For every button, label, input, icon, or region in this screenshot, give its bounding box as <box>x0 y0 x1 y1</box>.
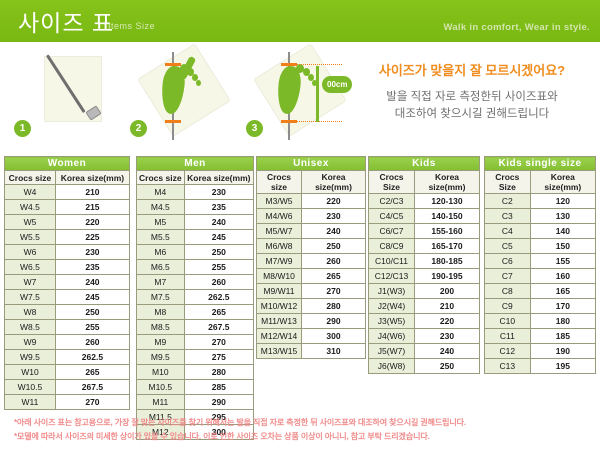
crocs-size-cell: M4/W6 <box>257 209 302 224</box>
korea-size-cell: 200 <box>414 284 479 299</box>
korea-size-cell: 130 <box>530 209 595 224</box>
table-row: W6230 <box>5 245 130 260</box>
step-2: 2 <box>128 50 238 145</box>
korea-size-cell: 165-170 <box>414 239 479 254</box>
korea-size-cell: 245 <box>55 290 129 305</box>
crocs-size-cell: W6 <box>5 245 56 260</box>
table-kids: KidsCrocs SizeKorea size(mm)C2/C3120-130… <box>368 156 480 374</box>
crocs-size-cell: C3 <box>485 209 531 224</box>
korea-size-cell: 270 <box>301 284 365 299</box>
marker-bottom-icon <box>165 120 181 123</box>
table-column-header: Korea size(mm) <box>414 171 479 194</box>
table-row: W11270 <box>5 395 130 410</box>
korea-size-cell: 225 <box>55 230 129 245</box>
korea-size-cell: 310 <box>301 344 365 359</box>
korea-size-cell: 262.5 <box>55 350 129 365</box>
table-row: C6155 <box>485 254 596 269</box>
crocs-size-cell: C9 <box>485 299 531 314</box>
table-group-header: Men <box>137 157 254 171</box>
korea-size-cell: 240 <box>55 275 129 290</box>
crocs-size-cell: M5/W7 <box>257 224 302 239</box>
table-row: J3(W5)220 <box>369 314 480 329</box>
korea-size-cell: 140-150 <box>414 209 479 224</box>
crocs-size-cell: C10 <box>485 314 531 329</box>
crocs-size-cell: J1(W3) <box>369 284 415 299</box>
table-row: M11/W13290 <box>257 314 366 329</box>
table-row: W9260 <box>5 335 130 350</box>
korea-size-cell: 120-130 <box>414 194 479 209</box>
korea-size-cell: 230 <box>55 245 129 260</box>
size-tables: WomenCrocs sizeKorea size(mm)W4210W4.521… <box>0 156 600 411</box>
korea-size-cell: 180 <box>530 314 595 329</box>
crocs-size-cell: C5 <box>485 239 531 254</box>
crocs-size-cell: J6(W8) <box>369 359 415 374</box>
crocs-size-cell: W11 <box>5 395 56 410</box>
table-column-header: Crocs size <box>137 171 185 185</box>
korea-size-cell: 210 <box>414 299 479 314</box>
korea-size-cell: 260 <box>184 275 253 290</box>
korea-size-cell: 275 <box>184 350 253 365</box>
table-row: M12/W14300 <box>257 329 366 344</box>
crocs-size-cell: C12/C13 <box>369 269 415 284</box>
table-column-header: Korea size(mm) <box>184 171 253 185</box>
measurement-steps: 1 2 00cm 3 사이즈가 맞을지 잘 모르시겠어요? 발을 직접 자로 측… <box>0 42 600 150</box>
crocs-size-cell: C2/C3 <box>369 194 415 209</box>
korea-size-cell: 280 <box>301 299 365 314</box>
korea-size-cell: 250 <box>414 359 479 374</box>
korea-size-cell: 230 <box>184 185 253 200</box>
korea-size-cell: 215 <box>55 200 129 215</box>
crocs-size-cell: J4(W6) <box>369 329 415 344</box>
crocs-size-cell: M13/W15 <box>257 344 302 359</box>
table-group-header: Unisex <box>257 157 366 171</box>
crocs-size-cell: C7 <box>485 269 531 284</box>
table-row: M7/W9260 <box>257 254 366 269</box>
korea-size-cell: 250 <box>184 245 253 260</box>
korea-size-cell: 267.5 <box>55 380 129 395</box>
size-table: KidsCrocs SizeKorea size(mm)C2/C3120-130… <box>368 156 480 374</box>
crocs-size-cell: W10.5 <box>5 380 56 395</box>
size-table: Kids single sizeCrocs SizeKorea size(mm)… <box>484 156 596 374</box>
table-row: M13/W15310 <box>257 344 366 359</box>
crocs-size-cell: W4 <box>5 185 56 200</box>
footer-note-2: *모델에 따라서 사이즈의 미세한 상이가 있을 수 있습니다. 이로 인한 사… <box>14 430 594 444</box>
crocs-size-cell: J5(W7) <box>369 344 415 359</box>
table-column-header: Korea size(mm) <box>55 171 129 185</box>
footer-note-1: *아래 사이즈 표는 참고용으로, 가장 잘 맞는 사이즈를 찾기 위해서는 발… <box>14 416 594 430</box>
table-row: M8265 <box>137 305 254 320</box>
crocs-size-cell: M8 <box>137 305 185 320</box>
table-row: M6/W8250 <box>257 239 366 254</box>
crocs-size-cell: M10 <box>137 365 185 380</box>
korea-size-cell: 250 <box>55 305 129 320</box>
korea-size-cell: 195 <box>530 359 595 374</box>
table-row: W8250 <box>5 305 130 320</box>
crocs-size-cell: C8/C9 <box>369 239 415 254</box>
crocs-size-cell: M9/W11 <box>257 284 302 299</box>
paper-icon <box>137 43 231 137</box>
table-row: W6.5235 <box>5 260 130 275</box>
korea-size-cell: 265 <box>301 269 365 284</box>
table-row: M4230 <box>137 185 254 200</box>
crocs-size-cell: C4/C5 <box>369 209 415 224</box>
crocs-size-cell: M3/W5 <box>257 194 302 209</box>
korea-size-cell: 160 <box>530 269 595 284</box>
crocs-size-cell: M8.5 <box>137 320 185 335</box>
korea-size-cell: 120 <box>530 194 595 209</box>
table-column-header: Crocs Size <box>369 171 415 194</box>
dotted-guide-bottom-icon <box>284 121 342 122</box>
korea-size-cell: 265 <box>184 305 253 320</box>
table-row: M10280 <box>137 365 254 380</box>
guidance-line-1: 발을 직접 자로 측정한뒤 사이즈표와 <box>352 89 592 106</box>
table-row: C8165 <box>485 284 596 299</box>
crocs-size-cell: M9.5 <box>137 350 185 365</box>
table-row: W4210 <box>5 185 130 200</box>
table-row: C10/C11180-185 <box>369 254 480 269</box>
korea-size-cell: 220 <box>55 215 129 230</box>
crocs-size-cell: C4 <box>485 224 531 239</box>
table-row: M9/W11270 <box>257 284 366 299</box>
korea-size-cell: 185 <box>530 329 595 344</box>
crocs-size-cell: M5 <box>137 215 185 230</box>
table-row: M7.5262.5 <box>137 290 254 305</box>
measure-bubble: 00cm <box>322 76 352 93</box>
crocs-size-cell: C10/C11 <box>369 254 415 269</box>
table-row: J4(W6)230 <box>369 329 480 344</box>
table-row: J5(W7)240 <box>369 344 480 359</box>
table-men: MenCrocs sizeKorea size(mm)M4230M4.5235M… <box>136 156 254 440</box>
table-row: M5/W7240 <box>257 224 366 239</box>
korea-size-cell: 240 <box>184 215 253 230</box>
korea-size-cell: 270 <box>184 335 253 350</box>
table-row: M4/W6230 <box>257 209 366 224</box>
crocs-size-cell: M7 <box>137 275 185 290</box>
table-row: C2/C3120-130 <box>369 194 480 209</box>
crocs-size-cell: M4.5 <box>137 200 185 215</box>
crocs-size-cell: M7.5 <box>137 290 185 305</box>
table-row: C3130 <box>485 209 596 224</box>
measure-bar-icon <box>316 66 319 122</box>
korea-size-cell: 210 <box>55 185 129 200</box>
table-row: C12/C13190-195 <box>369 269 480 284</box>
table-row: C10180 <box>485 314 596 329</box>
table-row: M9.5275 <box>137 350 254 365</box>
crocs-size-cell: W9 <box>5 335 56 350</box>
crocs-size-cell: W7.5 <box>5 290 56 305</box>
table-column-header: Korea size(mm) <box>530 171 595 194</box>
table-row: W7.5245 <box>5 290 130 305</box>
table-row: C12190 <box>485 344 596 359</box>
table-row: W4.5215 <box>5 200 130 215</box>
table-row: M8/W10265 <box>257 269 366 284</box>
crocs-size-cell: W5.5 <box>5 230 56 245</box>
crocs-size-cell: M6.5 <box>137 260 185 275</box>
korea-size-cell: 290 <box>301 314 365 329</box>
crocs-size-cell: M10.5 <box>137 380 185 395</box>
korea-size-cell: 245 <box>184 230 253 245</box>
crocs-size-cell: M11 <box>137 395 185 410</box>
table-row: C9170 <box>485 299 596 314</box>
table-group-header: Women <box>5 157 130 171</box>
table-row: M6.5255 <box>137 260 254 275</box>
table-unisex: UnisexCrocs sizeKorea size(mm)M3/W5220M4… <box>256 156 366 359</box>
table-group-header: Kids <box>369 157 480 171</box>
korea-size-cell: 250 <box>301 239 365 254</box>
guidance-block: 사이즈가 맞을지 잘 모르시겠어요? 발을 직접 자로 측정한뒤 사이즈표와 대… <box>352 60 592 123</box>
table-row: W8.5255 <box>5 320 130 335</box>
step-1: 1 <box>12 50 122 145</box>
crocs-size-cell: M11/W13 <box>257 314 302 329</box>
table-row: W9.5262.5 <box>5 350 130 365</box>
korea-size-cell: 170 <box>530 299 595 314</box>
table-column-header: Korea size(mm) <box>301 171 365 194</box>
crocs-size-cell: C2 <box>485 194 531 209</box>
crocs-size-cell: W7 <box>5 275 56 290</box>
table-row: W10265 <box>5 365 130 380</box>
guidance-line-2: 대조하여 찾으시길 권해드립니다 <box>352 106 592 123</box>
step-badge-3: 3 <box>246 120 263 137</box>
size-table: WomenCrocs sizeKorea size(mm)W4210W4.521… <box>4 156 130 410</box>
crocs-size-cell: W5 <box>5 215 56 230</box>
table-row: M4.5235 <box>137 200 254 215</box>
korea-size-cell: 260 <box>55 335 129 350</box>
korea-size-cell: 220 <box>301 194 365 209</box>
korea-size-cell: 190 <box>530 344 595 359</box>
crocs-size-cell: M7/W9 <box>257 254 302 269</box>
korea-size-cell: 150 <box>530 239 595 254</box>
korea-size-cell: 280 <box>184 365 253 380</box>
table-row: J2(W4)210 <box>369 299 480 314</box>
korea-size-cell: 155 <box>530 254 595 269</box>
table-row: M6250 <box>137 245 254 260</box>
table-row: W10.5267.5 <box>5 380 130 395</box>
crocs-size-cell: C8 <box>485 284 531 299</box>
korea-size-cell: 220 <box>414 314 479 329</box>
crocs-size-cell: M12/W14 <box>257 329 302 344</box>
marker-top-icon <box>165 63 181 66</box>
table-row: C6/C7155-160 <box>369 224 480 239</box>
korea-size-cell: 255 <box>55 320 129 335</box>
table-kids-single-size: Kids single sizeCrocs SizeKorea size(mm)… <box>484 156 596 374</box>
crocs-size-cell: W9.5 <box>5 350 56 365</box>
page-subtitle: Items Size <box>108 21 155 31</box>
korea-size-cell: 235 <box>55 260 129 275</box>
size-table: MenCrocs sizeKorea size(mm)M4230M4.5235M… <box>136 156 254 440</box>
table-row: M9270 <box>137 335 254 350</box>
korea-size-cell: 300 <box>301 329 365 344</box>
crocs-size-cell: W4.5 <box>5 200 56 215</box>
crocs-size-cell: W8 <box>5 305 56 320</box>
table-row: M8.5267.5 <box>137 320 254 335</box>
korea-size-cell: 290 <box>184 395 253 410</box>
page-title: 사이즈 표 <box>18 4 114 38</box>
page-header: 사이즈 표 Items Size Walk in comfort, Wear i… <box>0 0 600 42</box>
brand-tagline: Walk in comfort, Wear in style. <box>443 22 590 33</box>
table-row: C2120 <box>485 194 596 209</box>
table-column-header: Crocs Size <box>485 171 531 194</box>
table-row: J6(W8)250 <box>369 359 480 374</box>
crocs-size-cell: C11 <box>485 329 531 344</box>
dotted-guide-top-icon <box>284 64 342 65</box>
crocs-size-cell: M9 <box>137 335 185 350</box>
table-row: M10/W12280 <box>257 299 366 314</box>
table-row: C11185 <box>485 329 596 344</box>
korea-size-cell: 262.5 <box>184 290 253 305</box>
korea-size-cell: 230 <box>301 209 365 224</box>
crocs-size-cell: W6.5 <box>5 260 56 275</box>
crocs-size-cell: M5.5 <box>137 230 185 245</box>
crocs-size-cell: M10/W12 <box>257 299 302 314</box>
korea-size-cell: 240 <box>301 224 365 239</box>
korea-size-cell: 285 <box>184 380 253 395</box>
table-row: M10.5285 <box>137 380 254 395</box>
step-3: 00cm 3 <box>244 50 354 145</box>
crocs-size-cell: C12 <box>485 344 531 359</box>
crocs-size-cell: M6 <box>137 245 185 260</box>
table-row: M11290 <box>137 395 254 410</box>
size-table: UnisexCrocs sizeKorea size(mm)M3/W5220M4… <box>256 156 366 359</box>
crocs-size-cell: J3(W5) <box>369 314 415 329</box>
korea-size-cell: 267.5 <box>184 320 253 335</box>
table-row: C8/C9165-170 <box>369 239 480 254</box>
step-badge-2: 2 <box>130 120 147 137</box>
korea-size-cell: 235 <box>184 200 253 215</box>
table-row: W5.5225 <box>5 230 130 245</box>
table-row: M3/W5220 <box>257 194 366 209</box>
korea-size-cell: 255 <box>184 260 253 275</box>
crocs-size-cell: M4 <box>137 185 185 200</box>
table-column-header: Crocs size <box>5 171 56 185</box>
crocs-size-cell: W8.5 <box>5 320 56 335</box>
table-group-header: Kids single size <box>485 157 596 171</box>
table-row: W5220 <box>5 215 130 230</box>
crocs-size-cell: M8/W10 <box>257 269 302 284</box>
table-row: M5.5245 <box>137 230 254 245</box>
table-row: M5240 <box>137 215 254 230</box>
korea-size-cell: 190-195 <box>414 269 479 284</box>
korea-size-cell: 165 <box>530 284 595 299</box>
crocs-size-cell: C13 <box>485 359 531 374</box>
table-row: C5150 <box>485 239 596 254</box>
step-badge-1: 1 <box>14 120 31 137</box>
table-row: C7160 <box>485 269 596 284</box>
footer-notes: *아래 사이즈 표는 참고용으로, 가장 잘 맞는 사이즈를 찾기 위해서는 발… <box>14 416 594 444</box>
korea-size-cell: 155-160 <box>414 224 479 239</box>
korea-size-cell: 270 <box>55 395 129 410</box>
crocs-size-cell: C6/C7 <box>369 224 415 239</box>
korea-size-cell: 140 <box>530 224 595 239</box>
korea-size-cell: 265 <box>55 365 129 380</box>
korea-size-cell: 180-185 <box>414 254 479 269</box>
crocs-size-cell: M6/W8 <box>257 239 302 254</box>
table-row: W7240 <box>5 275 130 290</box>
table-women: WomenCrocs sizeKorea size(mm)W4210W4.521… <box>4 156 130 410</box>
crocs-size-cell: C6 <box>485 254 531 269</box>
korea-size-cell: 240 <box>414 344 479 359</box>
guidance-title: 사이즈가 맞을지 잘 모르시겠어요? <box>352 60 592 79</box>
crocs-size-cell: W10 <box>5 365 56 380</box>
table-row: C13195 <box>485 359 596 374</box>
table-column-header: Crocs size <box>257 171 302 194</box>
table-row: M7260 <box>137 275 254 290</box>
korea-size-cell: 260 <box>301 254 365 269</box>
toe-icon <box>196 80 201 86</box>
crocs-size-cell: J2(W4) <box>369 299 415 314</box>
table-row: C4140 <box>485 224 596 239</box>
table-row: C4/C5140-150 <box>369 209 480 224</box>
korea-size-cell: 230 <box>414 329 479 344</box>
table-row: J1(W3)200 <box>369 284 480 299</box>
